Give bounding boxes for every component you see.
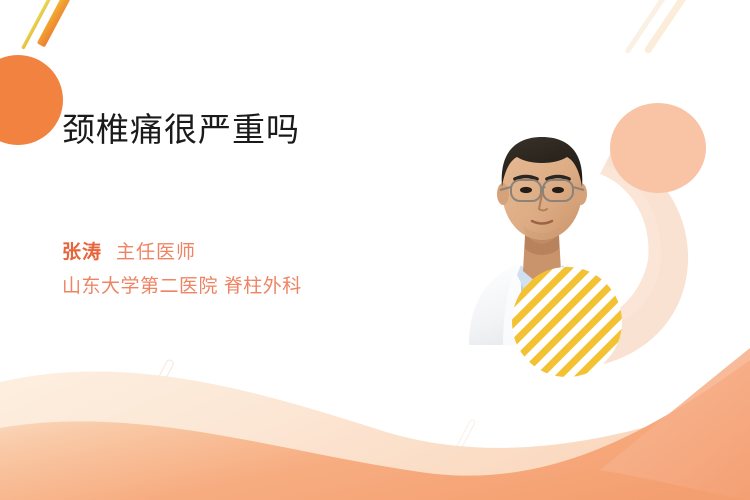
diagonal-stripes-top-left: [21, 0, 84, 50]
doctor-name: 张涛: [62, 242, 102, 263]
doctor-portrait: [447, 95, 637, 345]
text-block: 颈椎痛很严重吗 张涛主任医师 山东大学第二医院 脊柱外科: [62, 108, 442, 304]
wave-orange-bottom: [0, 360, 750, 500]
faint-stripes-top-right: [624, 0, 699, 55]
wave-light-bottom: [0, 371, 750, 500]
doctor-affiliation: 山东大学第二医院 脊柱外科: [62, 270, 442, 304]
doctor-rank: 主任医师: [116, 242, 196, 263]
wave-orange-upper-right: [600, 348, 750, 500]
faint-stripe-bottom-center: [455, 419, 475, 451]
faint-stripe-bottom-left: [148, 359, 174, 399]
page-title: 颈椎痛很严重吗: [62, 108, 442, 152]
doctor-name-line: 张涛主任医师: [62, 236, 442, 270]
orange-circle-left: [0, 55, 63, 145]
doctor-info-card: 颈椎痛很严重吗 张涛主任医师 山东大学第二医院 脊柱外科: [0, 0, 750, 500]
doctor-byline: 张涛主任医师 山东大学第二医院 脊柱外科: [62, 236, 442, 304]
